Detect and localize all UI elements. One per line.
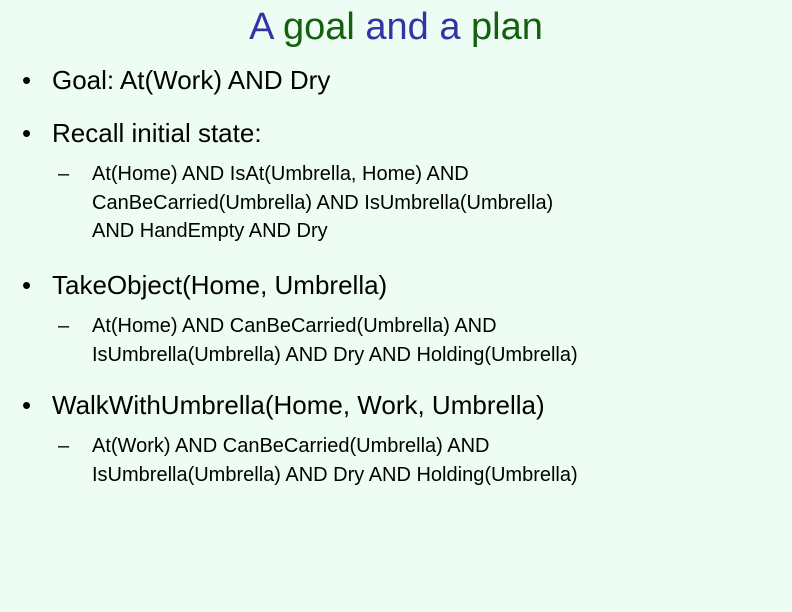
subbullet-initial-state: – At(Home) AND IsAt(Umbrella, Home) AND … [0,160,792,245]
subbullet-walk-with-umbrella-effects: – At(Work) AND CanBeCarried(Umbrella) AN… [0,432,792,489]
slide: A goal and a plan • Goal: At(Work) AND D… [0,0,792,612]
subbullet-take-object-effects: – At(Home) AND CanBeCarried(Umbrella) AN… [0,312,792,369]
subbullet-line: At(Home) AND IsAt(Umbrella, Home) AND [92,160,792,188]
subbullet-line: AND HandEmpty AND Dry [92,217,792,245]
bullet-walk-with-umbrella: • WalkWithUmbrella(Home, Work, Umbrella) [0,391,792,420]
subbullet-line: CanBeCarried(Umbrella) AND IsUmbrella(Um… [92,189,792,217]
bullet-marker-icon: • [22,271,31,300]
title-word-4: a [439,6,460,48]
subbullet-line: IsUmbrella(Umbrella) AND Dry AND Holding… [92,341,792,369]
page-title: A goal and a plan [0,0,792,48]
dash-marker-icon: – [58,160,69,188]
bullet-recall-initial-state-text: Recall initial state: [52,118,262,148]
bullet-recall-initial-state: • Recall initial state: [0,119,792,148]
bullet-take-object: • TakeObject(Home, Umbrella) [0,271,792,300]
subbullet-line: IsUmbrella(Umbrella) AND Dry AND Holding… [92,461,792,489]
title-word-3: and [365,6,428,48]
title-word-1: A [249,6,272,48]
bullet-marker-icon: • [22,119,31,148]
bullet-walk-with-umbrella-text: WalkWithUmbrella(Home, Work, Umbrella) [52,390,545,420]
subbullet-line: At(Home) AND CanBeCarried(Umbrella) AND [92,312,792,340]
bullet-goal: • Goal: At(Work) AND Dry [0,66,792,95]
bullet-goal-text: Goal: At(Work) AND Dry [52,65,330,95]
dash-marker-icon: – [58,312,69,340]
title-word-2: goal [283,6,355,48]
subbullet-line: At(Work) AND CanBeCarried(Umbrella) AND [92,432,792,460]
dash-marker-icon: – [58,432,69,460]
bullet-marker-icon: • [22,66,31,95]
bullet-take-object-text: TakeObject(Home, Umbrella) [52,270,387,300]
title-word-5: plan [471,6,543,48]
slide-body-list: • Goal: At(Work) AND Dry • Recall initia… [0,66,792,489]
bullet-marker-icon: • [22,391,31,420]
